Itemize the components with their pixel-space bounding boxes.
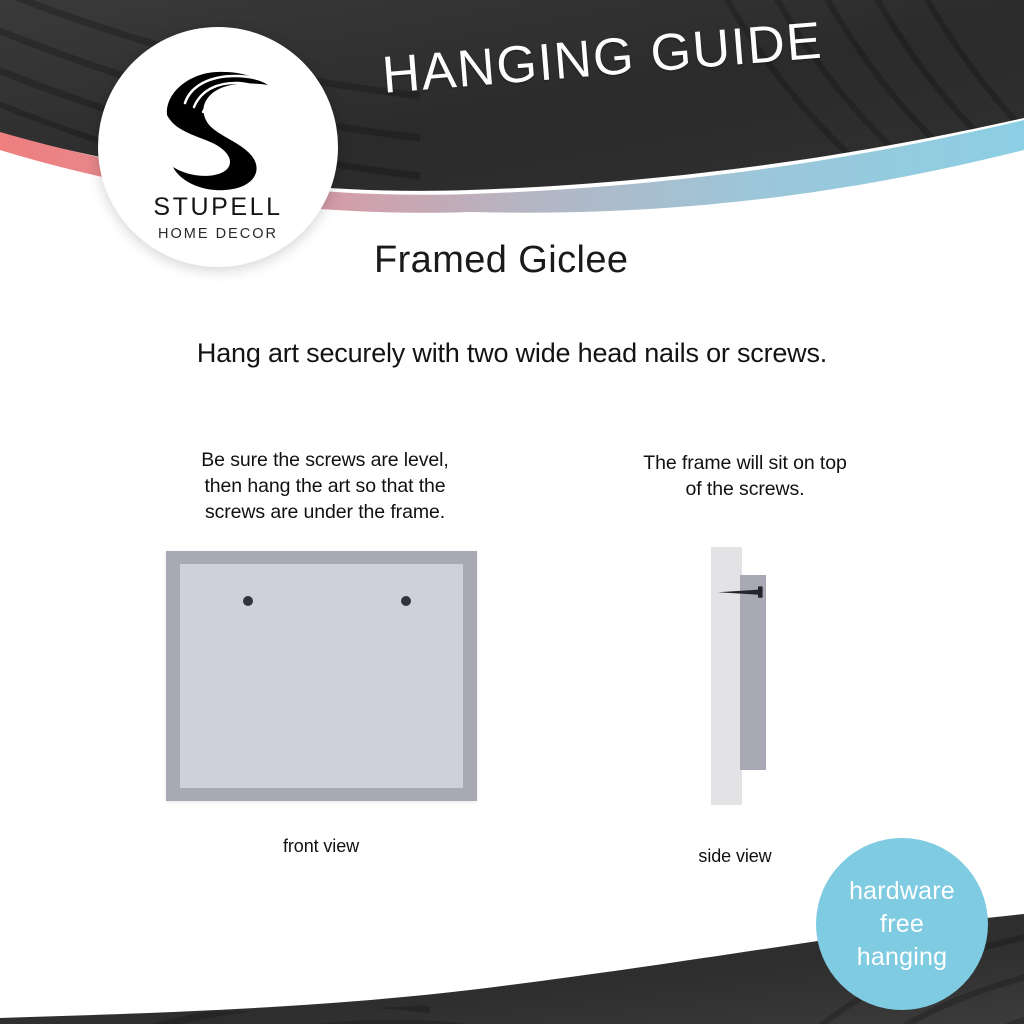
front-view-caption-line-3: screws are under the frame.: [140, 499, 510, 525]
stupell-s-swoosh-icon: [163, 63, 273, 191]
product-type-heading: Framed Giclee: [374, 239, 628, 282]
side-view-frame-strip: [740, 575, 766, 770]
screw-dot-right: [401, 596, 411, 606]
nail-side-icon: [717, 584, 767, 600]
side-view-caption: The frame will sit on top of the screws.: [600, 450, 890, 502]
badge-line-1: hardware: [849, 875, 955, 908]
page-title: HANGING GUIDE: [380, 11, 825, 106]
hanging-guide-page: STUPELL HOME DECOR HANGING GUIDE Framed …: [0, 0, 1024, 1024]
front-view-mat: [180, 564, 463, 788]
front-view-caption-line-1: Be sure the screws are level,: [140, 447, 510, 473]
logo-wordmark: STUPELL: [153, 195, 282, 220]
side-view-label: side view: [645, 846, 825, 867]
side-view-caption-line-1: The frame will sit on top: [600, 450, 890, 476]
front-view-diagram: [166, 551, 477, 801]
badge-line-2: free: [880, 908, 924, 941]
front-view-caption: Be sure the screws are level, then hang …: [140, 447, 510, 525]
side-view-caption-line-2: of the screws.: [600, 476, 890, 502]
side-view-diagram: [700, 540, 800, 810]
hardware-free-hanging-badge: hardware free hanging: [816, 838, 988, 1010]
front-view-caption-line-2: then hang the art so that the: [140, 473, 510, 499]
screw-dot-left: [243, 596, 253, 606]
front-view-label: front view: [176, 836, 466, 857]
badge-line-3: hanging: [857, 941, 947, 974]
main-instruction-text: Hang art securely with two wide head nai…: [0, 338, 1024, 369]
stupell-logo-badge: STUPELL HOME DECOR: [98, 27, 338, 267]
logo-subwordmark: HOME DECOR: [158, 227, 278, 242]
